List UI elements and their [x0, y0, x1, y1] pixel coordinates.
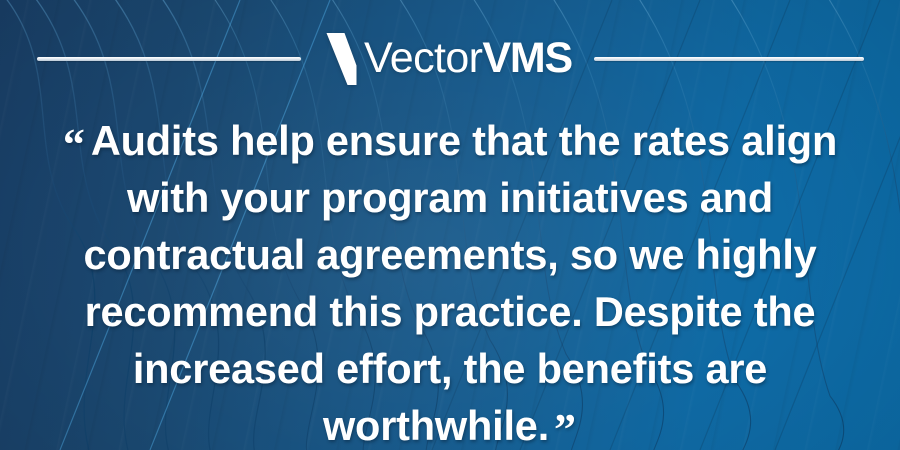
quote-graphic-card: VectorVMS “Audits help ensure that the r… — [0, 0, 900, 450]
quote-body: Audits help ensure that the rates align … — [83, 117, 837, 449]
open-quote-icon: “ — [63, 120, 86, 169]
logo-word-vector: Vector — [364, 34, 482, 82]
close-quote-icon: ” — [554, 405, 577, 450]
vectorvms-logo: VectorVMS — [323, 31, 572, 87]
divider-rule-left — [37, 57, 301, 61]
quote-container: “Audits help ensure that the rates align… — [34, 112, 866, 394]
vector-v-chevron-icon — [323, 31, 367, 87]
divider-rule-right — [594, 57, 864, 61]
quote-text-block: “Audits help ensure that the rates align… — [35, 112, 865, 450]
brand-header: VectorVMS — [0, 0, 900, 118]
logo-word-vms: VMS — [482, 34, 572, 82]
logo-wordmark: VectorVMS — [364, 37, 572, 80]
